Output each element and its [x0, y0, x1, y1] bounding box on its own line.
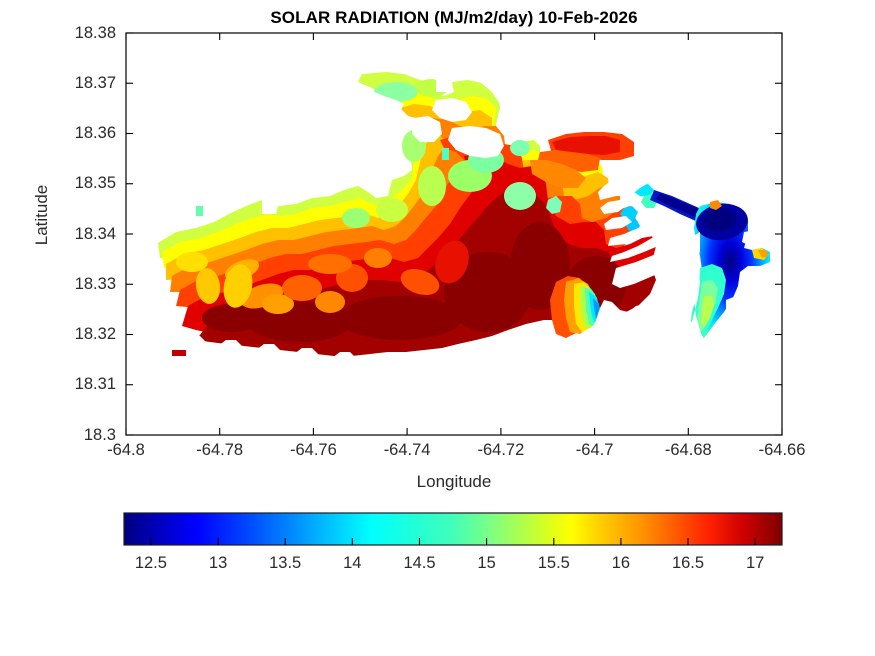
x-axis-label: Longitude	[126, 472, 782, 492]
x-tick-label: -64.76	[263, 441, 363, 460]
x-tick-label: -64.74	[357, 441, 457, 460]
y-tick-label: 18.38	[28, 24, 116, 43]
figure-canvas: SOLAR RADIATION (MJ/m2/day) 10-Feb-2026	[0, 0, 875, 656]
x-tick-label: -64.72	[451, 441, 551, 460]
x-tick-label: -64.66	[732, 441, 832, 460]
y-tick-label: 18.36	[28, 124, 116, 143]
y-axis-label: Latitude	[32, 155, 52, 275]
x-tick-label: -64.8	[76, 441, 176, 460]
x-tick-label: -64.68	[638, 441, 738, 460]
colorbar-tick-label: 17	[715, 554, 795, 573]
x-tick-label: -64.7	[545, 441, 645, 460]
colorbar-gradient[interactable]	[124, 513, 782, 545]
y-tick-label: 18.32	[28, 325, 116, 344]
west-cool-fleck	[196, 206, 203, 216]
contour-field	[126, 33, 782, 435]
bay-cool-fleck	[442, 148, 449, 160]
y-tick-label: 18.31	[28, 375, 116, 394]
outlier-fleck	[172, 350, 186, 356]
x-tick-label: -64.78	[170, 441, 270, 460]
y-tick-label: 18.33	[28, 275, 116, 294]
y-tick-label: 18.37	[28, 74, 116, 93]
colorbar[interactable]	[124, 513, 782, 545]
